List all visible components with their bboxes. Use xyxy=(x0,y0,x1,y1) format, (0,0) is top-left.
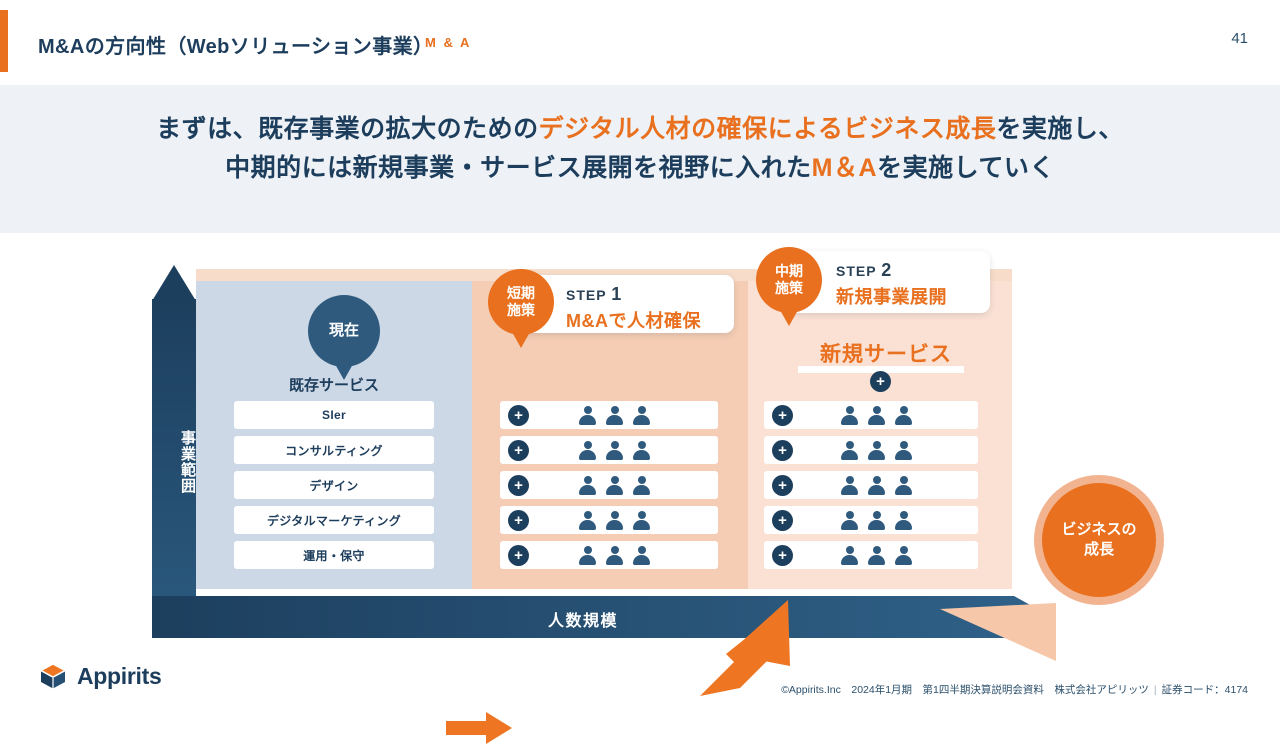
person-icon xyxy=(895,441,912,460)
badge-mid-term-line2: 施策 xyxy=(775,280,803,296)
person-icon xyxy=(633,441,650,460)
service-row-operation-maintenance: 運用・保守 xyxy=(234,541,434,569)
person-icon xyxy=(841,511,858,530)
header-category-tag: M & A xyxy=(425,35,471,50)
header-accent-bar xyxy=(0,10,8,72)
axis-y-arrowhead xyxy=(152,265,196,301)
person-icon xyxy=(841,406,858,425)
plus-icon-new-service: + xyxy=(870,371,891,392)
step1-people-row: + xyxy=(500,541,718,569)
plus-icon: + xyxy=(772,545,793,566)
person-icon xyxy=(633,546,650,565)
person-group xyxy=(841,441,912,460)
person-icon xyxy=(606,546,623,565)
headline-line1-part-b: を実施し、 xyxy=(996,115,1124,143)
step1-label-text: STEP xyxy=(566,287,606,303)
person-icon xyxy=(606,441,623,460)
service-row-consulting: コンサルティング xyxy=(234,436,434,464)
badge-short-term-line1: 短期 xyxy=(507,285,535,301)
slide-header: M&Aの方向性（Webソリューション事業） M & A 41 xyxy=(0,0,1280,85)
plus-icon: + xyxy=(508,510,529,531)
page-number: 41 xyxy=(1231,30,1248,47)
person-icon xyxy=(841,476,858,495)
step2-step-label: STEP 2 xyxy=(836,260,947,281)
plus-icon: + xyxy=(508,545,529,566)
headline-line1-highlight: デジタル人材の確保によるビジネス成長 xyxy=(539,115,997,143)
person-icon xyxy=(579,546,596,565)
person-icon xyxy=(841,546,858,565)
footer-copyright-text: ©Appirits.Inc 2024年1月期 第1四半期決算説明会資料 株式会社… xyxy=(781,684,1149,696)
person-icon xyxy=(633,511,650,530)
person-icon xyxy=(606,511,623,530)
person-icon xyxy=(895,476,912,495)
plus-icon: + xyxy=(508,405,529,426)
person-group xyxy=(841,476,912,495)
logo-wordmark: Appirits xyxy=(77,663,162,690)
person-icon xyxy=(579,406,596,425)
step2-number: 2 xyxy=(881,260,892,280)
person-icon xyxy=(606,476,623,495)
step2-people-row: + xyxy=(764,471,978,499)
person-group xyxy=(579,441,650,460)
headline-line-1: まずは、既存事業の拡大のためのデジタル人材の確保によるビジネス成長を実施し、 xyxy=(0,110,1280,149)
person-icon xyxy=(633,476,650,495)
step2-people-row: + xyxy=(764,401,978,429)
step2-people-row: + xyxy=(764,541,978,569)
headline-line2-part-b: を実施していく xyxy=(877,154,1055,182)
person-icon xyxy=(868,546,885,565)
step2-people-row: + xyxy=(764,436,978,464)
person-icon xyxy=(895,546,912,565)
person-icon xyxy=(633,406,650,425)
step2-label-text: STEP xyxy=(836,263,876,279)
badge-mid-term: 中期施策 xyxy=(756,247,822,313)
person-group xyxy=(579,511,650,530)
plus-icon: + xyxy=(508,475,529,496)
service-row-design: デザイン xyxy=(234,471,434,499)
service-row-sier: SIer xyxy=(234,401,434,429)
growth-label-line2: 成長 xyxy=(1084,541,1114,558)
badge-current: 現在 xyxy=(308,295,380,367)
step1-number: 1 xyxy=(611,284,622,304)
axis-y-label: 事業範囲 xyxy=(152,430,196,494)
footer-security-code: 証券コード：4174 xyxy=(1162,684,1248,696)
plus-icon: + xyxy=(772,405,793,426)
person-icon xyxy=(895,406,912,425)
headline-line-2: 中期的には新規事業・サービス展開を視野に入れたM＆Aを実施していく xyxy=(0,149,1280,188)
arrow-into-design-row xyxy=(446,712,516,744)
headline-line2-highlight: M＆A xyxy=(812,154,877,182)
plus-icon: + xyxy=(508,440,529,461)
person-icon xyxy=(841,441,858,460)
slide: M&Aの方向性（Webソリューション事業） M & A 41 まずは、既存事業の… xyxy=(0,0,1280,720)
person-icon xyxy=(579,476,596,495)
step2-people-row: + xyxy=(764,506,978,534)
badge-mid-term-line1: 中期 xyxy=(775,263,803,279)
person-group xyxy=(579,476,650,495)
person-icon xyxy=(606,406,623,425)
growth-circle: ビジネスの成長 xyxy=(1042,483,1156,597)
footer-separator: | xyxy=(1154,684,1157,696)
person-icon xyxy=(868,476,885,495)
growth-label-line1: ビジネスの xyxy=(1061,521,1136,538)
axis-x-label: 人数規模 xyxy=(152,607,1014,631)
person-icon xyxy=(868,511,885,530)
badge-short-term: 短期施策 xyxy=(488,269,554,335)
step1-people-row: + xyxy=(500,471,718,499)
step1-people-row: + xyxy=(500,436,718,464)
person-group xyxy=(579,546,650,565)
headline-line2-part-a: 中期的には新規事業・サービス展開を視野に入れた xyxy=(225,154,812,182)
person-icon xyxy=(579,511,596,530)
step1-people-row: + xyxy=(500,506,718,534)
plus-icon: + xyxy=(772,510,793,531)
step2-title: 新規事業展開 xyxy=(836,283,947,309)
page-title: M&Aの方向性（Webソリューション事業） xyxy=(38,30,433,59)
growth-cone xyxy=(940,603,1056,661)
headline-line1-part-a: まずは、既存事業の拡大のための xyxy=(156,115,539,143)
plus-icon: + xyxy=(772,440,793,461)
diagram-area: 事業範囲 人数規模 既存サービス 新規サービス + SIer コンサルティング … xyxy=(0,233,1280,653)
person-group xyxy=(841,406,912,425)
cube-logo-icon xyxy=(38,661,68,691)
step1-step-label: STEP 1 xyxy=(566,284,701,305)
step1-people-row: + xyxy=(500,401,718,429)
person-icon xyxy=(868,406,885,425)
service-row-digital-marketing: デジタルマーケティング xyxy=(234,506,434,534)
axis-x-arrow: 人数規模 xyxy=(152,596,1052,638)
headline-text: まずは、既存事業の拡大のためのデジタル人材の確保によるビジネス成長を実施し、 中… xyxy=(0,110,1280,188)
step1-title: M&Aで人材確保 xyxy=(566,307,701,333)
person-icon xyxy=(895,511,912,530)
person-icon xyxy=(579,441,596,460)
plus-icon: + xyxy=(772,475,793,496)
appirits-logo: Appirits xyxy=(38,661,162,691)
person-icon xyxy=(868,441,885,460)
person-group xyxy=(579,406,650,425)
existing-services-title: 既存サービス xyxy=(196,374,472,395)
axis-y-arrow: 事業範囲 xyxy=(152,265,196,635)
new-services-title: 新規サービス xyxy=(748,338,1024,368)
person-group xyxy=(841,546,912,565)
footer-copyright: ©Appirits.Inc 2024年1月期 第1四半期決算説明会資料 株式会社… xyxy=(781,682,1248,697)
badge-short-term-line2: 施策 xyxy=(507,302,535,318)
person-group xyxy=(841,511,912,530)
